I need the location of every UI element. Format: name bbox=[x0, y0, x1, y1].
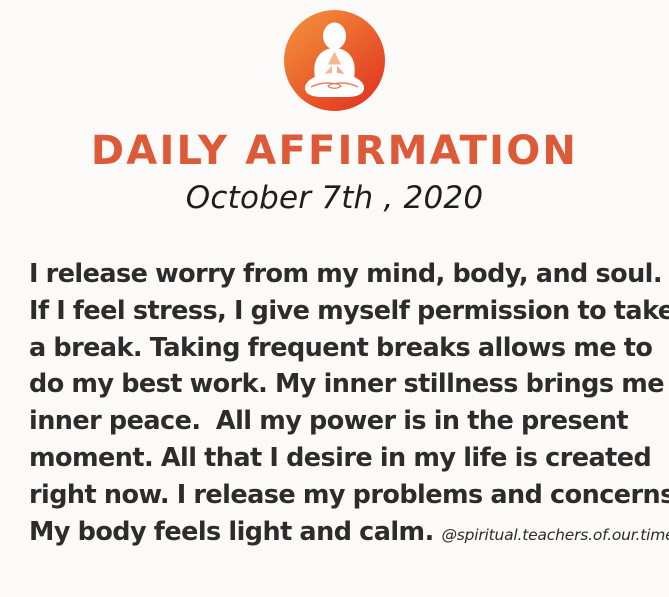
affirmation-line: I release worry from my mind, body, and … bbox=[29, 256, 649, 293]
affirmation-line: inner peace. All my power is in the pres… bbox=[29, 403, 649, 440]
affirmation-line: My body feels light and calm. bbox=[29, 517, 441, 547]
page-title: DAILY AFFIRMATION bbox=[0, 128, 669, 174]
affirmation-last-line: My body feels light and calm. @spiritual… bbox=[29, 514, 649, 554]
affirmation-line: moment. All that I desire in my life is … bbox=[29, 440, 649, 477]
affirmation-line: a break. Taking frequent breaks allows m… bbox=[29, 330, 649, 367]
affirmation-line: If I feel stress, I give myself permissi… bbox=[29, 293, 649, 330]
affirmation-line: do my best work. My inner stillness brin… bbox=[29, 366, 649, 403]
daily-affirmation-card: DAILY AFFIRMATION October 7th , 2020 I r… bbox=[0, 0, 669, 597]
account-handle: @spiritual.teachers.of.our.time bbox=[441, 526, 669, 544]
affirmation-date: October 7th , 2020 bbox=[0, 179, 669, 217]
affirmation-line: right now. I release my problems and con… bbox=[29, 477, 649, 514]
affirmation-text: I release worry from my mind, body, and … bbox=[29, 256, 649, 553]
meditating-person-lotus-icon bbox=[284, 10, 385, 111]
logo-container bbox=[0, 8, 669, 112]
